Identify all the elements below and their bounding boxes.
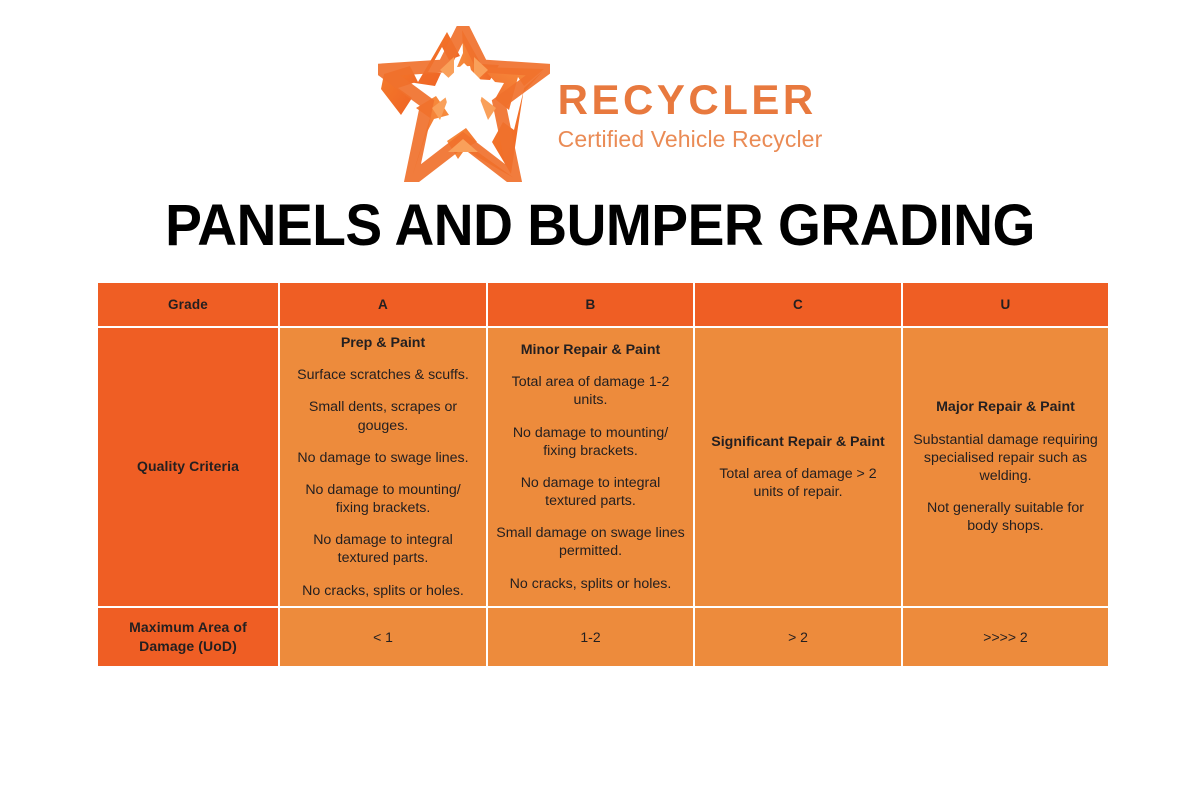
cell-quality-c: Significant Repair & Paint Total area of…: [695, 328, 901, 606]
recycling-star-logo-icon: [378, 26, 550, 182]
grading-poster: RECYCLER Certified Vehicle Recycler PANE…: [0, 0, 1200, 800]
criteria-line: Small dents, scrapes or gouges.: [288, 398, 478, 434]
criteria-line: No cracks, splits or holes.: [496, 575, 685, 593]
cell-uod-b: 1-2: [488, 608, 693, 666]
table-header-row: Grade A B C U: [98, 283, 1108, 326]
header-cell-grade-c: C: [695, 283, 901, 326]
criteria-line: No damage to integral textured parts.: [496, 474, 685, 510]
table-row-quality-criteria: Quality Criteria Prep & Paint Surface sc…: [98, 328, 1108, 606]
criteria-line: Not generally suitable for body shops.: [911, 499, 1100, 535]
table-row-max-area-of-damage: Maximum Area of Damage (UoD) < 1 1-2 > 2…: [98, 608, 1108, 666]
criteria-line: No cracks, splits or holes.: [288, 582, 478, 600]
cell-quality-a: Prep & Paint Surface scratches & scuffs.…: [280, 328, 486, 606]
cell-heading: Major Repair & Paint: [911, 398, 1100, 416]
criteria-line: Surface scratches & scuffs.: [288, 366, 478, 384]
page-title: PANELS AND BUMPER GRADING: [30, 192, 1170, 259]
criteria-line: Substantial damage requiring specialised…: [911, 431, 1100, 486]
row-label-quality-criteria: Quality Criteria: [98, 328, 278, 606]
cell-heading: Minor Repair & Paint: [496, 341, 685, 359]
cell-uod-u: >>>> 2: [903, 608, 1108, 666]
criteria-line: Total area of damage > 2 units of repair…: [703, 465, 893, 501]
criteria-heading-c: Significant Repair & Paint: [703, 433, 893, 451]
criteria-line: Small damage on swage lines permitted.: [496, 524, 685, 560]
logo-wordmark: RECYCLER: [558, 78, 823, 122]
grading-table: Grade A B C U Quality Criteria Prep & Pa…: [96, 281, 1110, 668]
cell-heading: Prep & Paint: [288, 334, 478, 352]
cell-quality-b: Minor Repair & Paint Total area of damag…: [488, 328, 693, 606]
row-label-max-area-of-damage: Maximum Area of Damage (UoD): [98, 608, 278, 666]
logo-text-group: RECYCLER Certified Vehicle Recycler: [558, 54, 823, 154]
criteria-line: No damage to mounting/ fixing brackets.: [496, 424, 685, 460]
criteria-heading-u: Major Repair & Paint: [911, 398, 1100, 416]
criteria-heading-a: Prep & Paint: [288, 334, 478, 352]
criteria-line: No damage to swage lines.: [288, 449, 478, 467]
cell-uod-a: < 1: [280, 608, 486, 666]
criteria-line: No damage to mounting/ fixing brackets.: [288, 481, 478, 517]
header-cell-grade: Grade: [98, 283, 278, 326]
brand-logo: RECYCLER Certified Vehicle Recycler: [0, 24, 1200, 184]
cell-heading: Significant Repair & Paint: [703, 433, 893, 451]
criteria-line: Total area of damage 1-2 units.: [496, 373, 685, 409]
header-cell-grade-u: U: [903, 283, 1108, 326]
logo-tagline: Certified Vehicle Recycler: [558, 126, 823, 154]
cell-quality-u: Major Repair & Paint Substantial damage …: [903, 328, 1108, 606]
criteria-line: No damage to integral textured parts.: [288, 531, 478, 567]
cell-uod-c: > 2: [695, 608, 901, 666]
criteria-heading-b: Minor Repair & Paint: [496, 341, 685, 359]
header-cell-grade-b: B: [488, 283, 693, 326]
header-cell-grade-a: A: [280, 283, 486, 326]
